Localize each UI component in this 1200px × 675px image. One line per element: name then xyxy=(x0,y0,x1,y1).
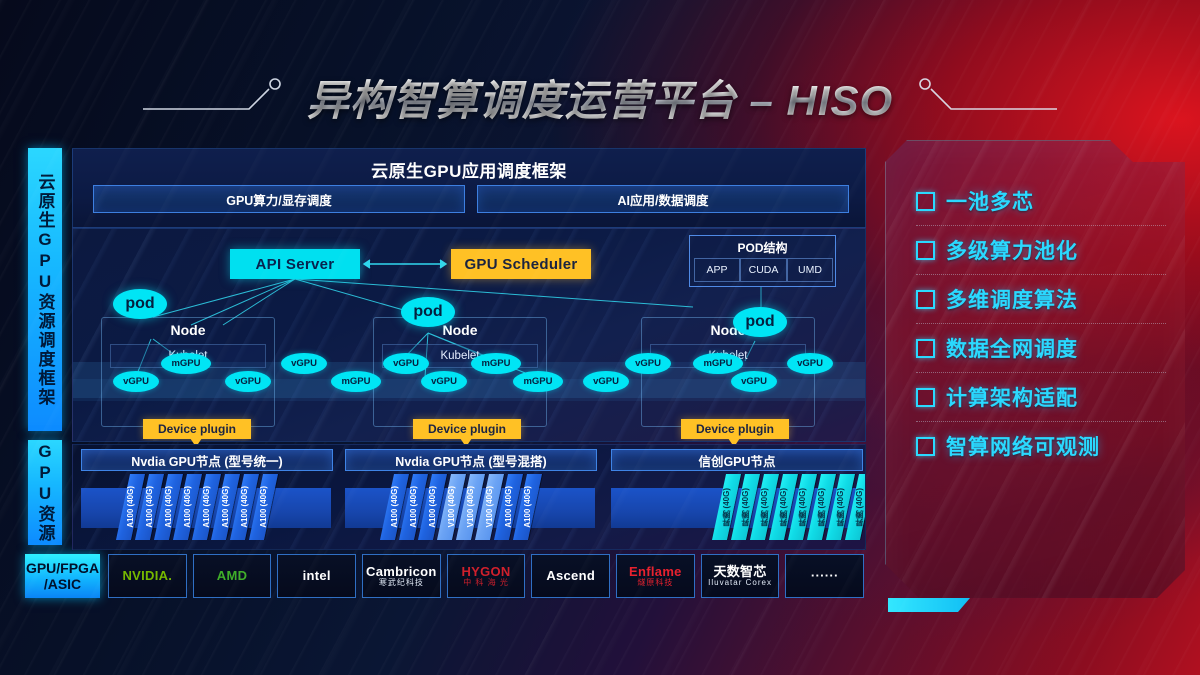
mgpu-ellipse[interactable]: mGPU xyxy=(331,371,381,392)
pod-ellipse[interactable]: pod xyxy=(401,297,455,327)
logo-secondary-label: 燧原科技 xyxy=(637,579,673,587)
gpu-card-label: 昇腾 (40G) xyxy=(797,488,808,527)
logo-primary-label: Cambricon xyxy=(366,565,437,579)
gpu-card-label: 昇腾 (40G) xyxy=(778,488,789,527)
pod-cell-app: APP xyxy=(694,258,740,282)
node-label: Node xyxy=(642,322,814,338)
vgpu-ellipse[interactable]: vGPU xyxy=(731,371,777,392)
vgpu-ellipse[interactable]: vGPU xyxy=(583,371,629,392)
feature-bullet-label: 一池多芯 xyxy=(946,186,1034,216)
gpu-card-label: A100 (40G) xyxy=(145,486,154,528)
logo-more[interactable]: ······ xyxy=(785,554,864,598)
logo-primary-label: AMD xyxy=(217,569,248,583)
feature-bullet-label: 智算网络可观测 xyxy=(946,431,1100,461)
logo-intel[interactable]: intel xyxy=(277,554,356,598)
sidebar-tab-gpu-resource[interactable]: GPU资源 xyxy=(28,440,62,545)
logo-primary-label: ······ xyxy=(811,569,839,583)
device-plugin-button[interactable]: Device plugin xyxy=(413,419,521,439)
gpu-card-label: 昇腾 (40G) xyxy=(759,488,770,527)
logo-primary-label: HYGON xyxy=(461,565,510,579)
feature-bullet-item[interactable]: 计算架构适配 xyxy=(916,372,1166,421)
logo-primary-label: Ascend xyxy=(546,569,595,583)
checkbox-square-icon xyxy=(916,437,935,456)
mgpu-ellipse[interactable]: mGPU xyxy=(693,353,743,374)
logo-secondary-label: Iluvatar Corex xyxy=(708,579,772,587)
gpu-card-label: 昇腾 (40G) xyxy=(721,488,732,527)
logo-primary-label: 天数智芯 xyxy=(713,565,766,579)
vendor-logo-bar: NVIDIA.AMDintelCambricon寒武纪科技HYGON中 科 海 … xyxy=(108,554,864,598)
gpu-card-label: A100 (40G) xyxy=(259,486,268,528)
logo-amd[interactable]: AMD xyxy=(193,554,272,598)
panel-corner-accent xyxy=(888,598,970,612)
feature-highlight-panel: 一池多芯多级算力池化多维调度算法数据全网调度计算架构适配智算网络可观测 xyxy=(885,140,1187,620)
sidebar-tab-asic-label: GPU/FPGA /ASIC xyxy=(26,560,99,592)
pod-structure-box: POD结构 APP CUDA UMD xyxy=(689,235,836,287)
gpu-card-label: A100 (40G) xyxy=(390,486,399,528)
title-bar: 异构智算调度运营平台 – HISO xyxy=(0,62,1200,132)
device-plugin-button[interactable]: Device plugin xyxy=(143,419,251,439)
vgpu-ellipse[interactable]: vGPU xyxy=(383,353,429,374)
logo-primary-label: Enflame xyxy=(629,565,682,579)
scheduling-architecture-panel: API Server GPU Scheduler POD结构 APP CUDA … xyxy=(72,228,866,442)
sidebar-tab-framework[interactable]: 云原生GPU资源调度框架 xyxy=(28,148,62,431)
slide-canvas: 异构智算调度运营平台 – HISO 云原生GPU资源调度框架 GPU资源 GPU… xyxy=(0,0,1200,675)
vgpu-ellipse[interactable]: vGPU xyxy=(787,353,833,374)
logo-cambricon[interactable]: Cambricon寒武纪科技 xyxy=(362,554,441,598)
gpu-card-label: A100 (40G) xyxy=(164,486,173,528)
gpu-resource-panel: Nvdia GPU节点 (型号统一) Nvdia GPU节点 (型号混搭) 信创… xyxy=(72,444,866,550)
gpu-card-label: A100 (40G) xyxy=(240,486,249,528)
checkbox-square-icon xyxy=(916,339,935,358)
title-deco-left-icon xyxy=(141,75,291,119)
logo-enflame[interactable]: Enflame燧原科技 xyxy=(616,554,695,598)
bar-gpu-compute-scheduling[interactable]: GPU算力/显存调度 xyxy=(93,185,465,213)
node-label: Node xyxy=(102,322,274,338)
title-deco-right-icon xyxy=(909,75,1059,119)
mgpu-ellipse[interactable]: mGPU xyxy=(513,371,563,392)
pod-ellipse[interactable]: pod xyxy=(113,289,167,319)
pod-ellipse[interactable]: pod xyxy=(733,307,787,337)
feature-bullet-item[interactable]: 智算网络可观测 xyxy=(916,421,1166,470)
feature-bullet-list: 一池多芯多级算力池化多维调度算法数据全网调度计算架构适配智算网络可观测 xyxy=(916,177,1166,470)
feature-bullet-label: 多维调度算法 xyxy=(946,284,1078,314)
page-title: 异构智算调度运营平台 – HISO xyxy=(291,67,909,128)
pod-structure-title: POD结构 xyxy=(690,239,835,256)
checkbox-square-icon xyxy=(916,290,935,309)
sidebar-tab-gpu-fpga-asic[interactable]: GPU/FPGA /ASIC xyxy=(25,554,100,598)
feature-bullet-item[interactable]: 一池多芯 xyxy=(916,177,1166,225)
gpu-card-label: V100 (40G) xyxy=(485,486,494,527)
logo-secondary-label: 中 科 海 光 xyxy=(463,579,509,587)
vgpu-ellipse[interactable]: vGPU xyxy=(625,353,671,374)
gpu-card-label: A100 (40G) xyxy=(523,486,532,528)
gpu-card-label: 昇腾 (40G) xyxy=(816,488,827,527)
logo-hygon[interactable]: HYGON中 科 海 光 xyxy=(447,554,526,598)
logo-primary-label: intel xyxy=(303,569,331,583)
pod-cell-cuda: CUDA xyxy=(740,258,787,282)
feature-bullet-label: 数据全网调度 xyxy=(946,333,1078,363)
logo-secondary-label: 寒武纪科技 xyxy=(379,579,424,587)
gpu-card-label: A100 (40G) xyxy=(221,486,230,528)
framework-panel-title: 云原生GPU应用调度框架 xyxy=(73,157,865,182)
bar-ai-data-scheduling[interactable]: AI应用/数据调度 xyxy=(477,185,849,213)
checkbox-square-icon xyxy=(916,241,935,260)
gpu-group-header: 信创GPU节点 xyxy=(611,449,863,471)
gpu-group-header: Nvdia GPU节点 (型号统一) xyxy=(81,449,333,471)
feature-bullet-label: 计算架构适配 xyxy=(946,382,1078,412)
gpu-card-label: 昇腾 (40G) xyxy=(740,488,751,527)
device-plugin-button[interactable]: Device plugin xyxy=(681,419,789,439)
logo-primary-label: NVIDIA. xyxy=(122,569,172,583)
gpu-card-label: A100 (40G) xyxy=(504,486,513,528)
gpu-scheduler-node[interactable]: GPU Scheduler xyxy=(451,249,591,279)
cloud-native-framework-panel: 云原生GPU应用调度框架 GPU算力/显存调度 AI应用/数据调度 xyxy=(72,148,866,228)
gpu-group-header: Nvdia GPU节点 (型号混搭) xyxy=(345,449,597,471)
gpu-card-label: A100 (40G) xyxy=(409,486,418,528)
api-server-node[interactable]: API Server xyxy=(230,249,360,279)
gpu-card-label: 昇腾 (40G) xyxy=(854,488,865,527)
gpu-card-label: V100 (40G) xyxy=(447,486,456,527)
feature-bullet-item[interactable]: 数据全网调度 xyxy=(916,323,1166,372)
feature-bullet-label: 多级算力池化 xyxy=(946,235,1078,265)
gpu-card-label: A100 (40G) xyxy=(126,486,135,528)
gpu-card-label: A100 (40G) xyxy=(428,486,437,528)
vgpu-ellipse[interactable]: vGPU xyxy=(113,371,159,392)
gpu-card-label: V100 (40G) xyxy=(466,486,475,527)
gpu-card-label: A100 (40G) xyxy=(202,486,211,528)
gpu-card-label: A100 (40G) xyxy=(183,486,192,528)
checkbox-square-icon xyxy=(916,388,935,407)
vgpu-ellipse[interactable]: vGPU xyxy=(281,353,327,374)
logo-nvidia[interactable]: NVIDIA. xyxy=(108,554,187,598)
logo-iluvatar[interactable]: 天数智芯Iluvatar Corex xyxy=(701,554,780,598)
mgpu-ellipse[interactable]: mGPU xyxy=(471,353,521,374)
gpu-card-label: 昇腾 (40G) xyxy=(835,488,846,527)
vgpu-ellipse[interactable]: vGPU xyxy=(225,371,271,392)
node-label: Node xyxy=(374,322,546,338)
logo-ascend[interactable]: Ascend xyxy=(531,554,610,598)
feature-bullet-item[interactable]: 多维调度算法 xyxy=(916,274,1166,323)
mgpu-ellipse[interactable]: mGPU xyxy=(161,353,211,374)
feature-bullet-item[interactable]: 多级算力池化 xyxy=(916,225,1166,274)
pod-cell-umd: UMD xyxy=(787,258,833,282)
vgpu-ellipse[interactable]: vGPU xyxy=(421,371,467,392)
checkbox-square-icon xyxy=(916,192,935,211)
